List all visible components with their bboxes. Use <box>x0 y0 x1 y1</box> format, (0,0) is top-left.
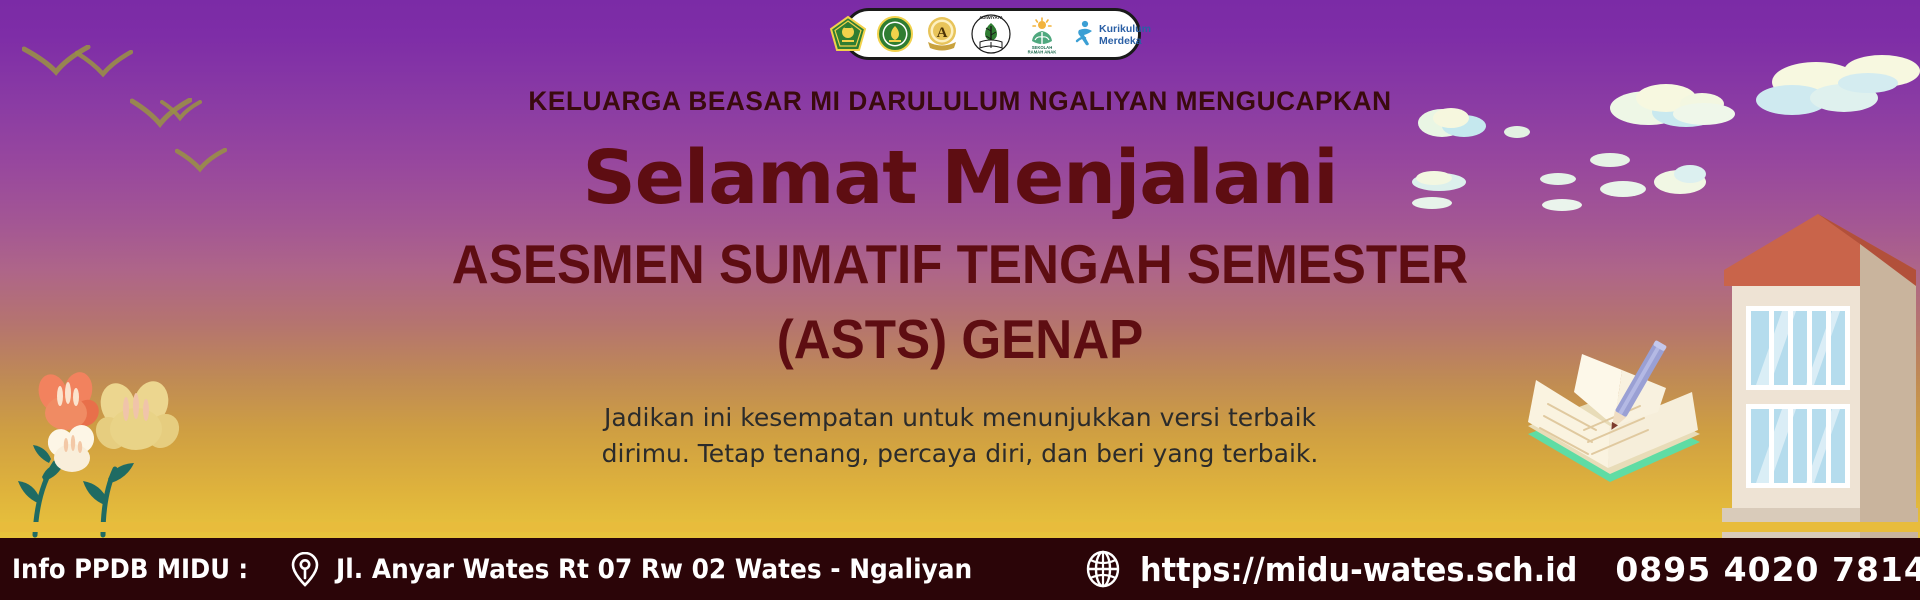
contact-footer-bar: Info PPDB MIDU : Jl. Anyar Wates Rt 07 R… <box>0 538 1920 600</box>
akreditasi-grade-text: A <box>936 25 947 41</box>
accreditation-logo-strip: A ADIWIYATA SEKOLAH RAMAH ANAK <box>843 8 1141 60</box>
tagline-line-2: dirimu. Tetap tenang, percaya diri, dan … <box>0 436 1920 472</box>
footer-address: Jl. Anyar Wates Rt 07 Rw 02 Wates - Ngal… <box>336 554 972 585</box>
tagline-line-1: Jadikan ini kesempatan untuk menunjukkan… <box>0 400 1920 436</box>
footer-website-link[interactable]: https://midu-wates.sch.id <box>1140 550 1577 589</box>
subtitle-line-1: ASESMEN SUMATIF TENGAH SEMESTER <box>67 237 1853 292</box>
madrasah-circle-logo <box>876 15 914 53</box>
gold-divider-rule <box>0 522 1920 532</box>
banner-text-block: KELUARGA BEASAR MI DARULULUM NGALIYAN ME… <box>0 0 1920 471</box>
kurikulum-merdeka-logo: Kurikulum Merdeka <box>1072 17 1156 51</box>
page-title: Selamat Menjalani <box>0 141 1920 215</box>
adiwiyata-label: ADIWIYATA <box>979 15 1004 20</box>
tagline-text: Jadikan ini kesempatan untuk menunjukkan… <box>0 400 1920 471</box>
eyebrow-text: KELUARGA BEASAR MI DARULULUM NGALIYAN ME… <box>29 86 1891 117</box>
footer-phone-number: 0895 4020 78140 <box>1615 550 1920 589</box>
sekolah-ramah-anak-line2: RAMAH ANAK <box>1027 49 1056 54</box>
adiwiyata-logo: ADIWIYATA <box>970 14 1012 54</box>
globe-icon <box>1084 549 1122 589</box>
akreditasi-a-medal-logo: A <box>923 15 961 53</box>
sekolah-ramah-anak-logo: SEKOLAH RAMAH ANAK <box>1021 14 1063 54</box>
map-pin-icon <box>290 550 320 588</box>
kurikulum-merdeka-line2: Merdeka <box>1099 35 1142 47</box>
subtitle-line-2: (ASTS) GENAP <box>67 312 1853 367</box>
footer-label: Info PPDB MIDU : <box>12 554 248 585</box>
kemenag-pentagon-logo <box>829 15 867 53</box>
banner-root: A ADIWIYATA SEKOLAH RAMAH ANAK <box>0 0 1920 600</box>
kurikulum-merdeka-line1: Kurikulum <box>1099 23 1151 35</box>
